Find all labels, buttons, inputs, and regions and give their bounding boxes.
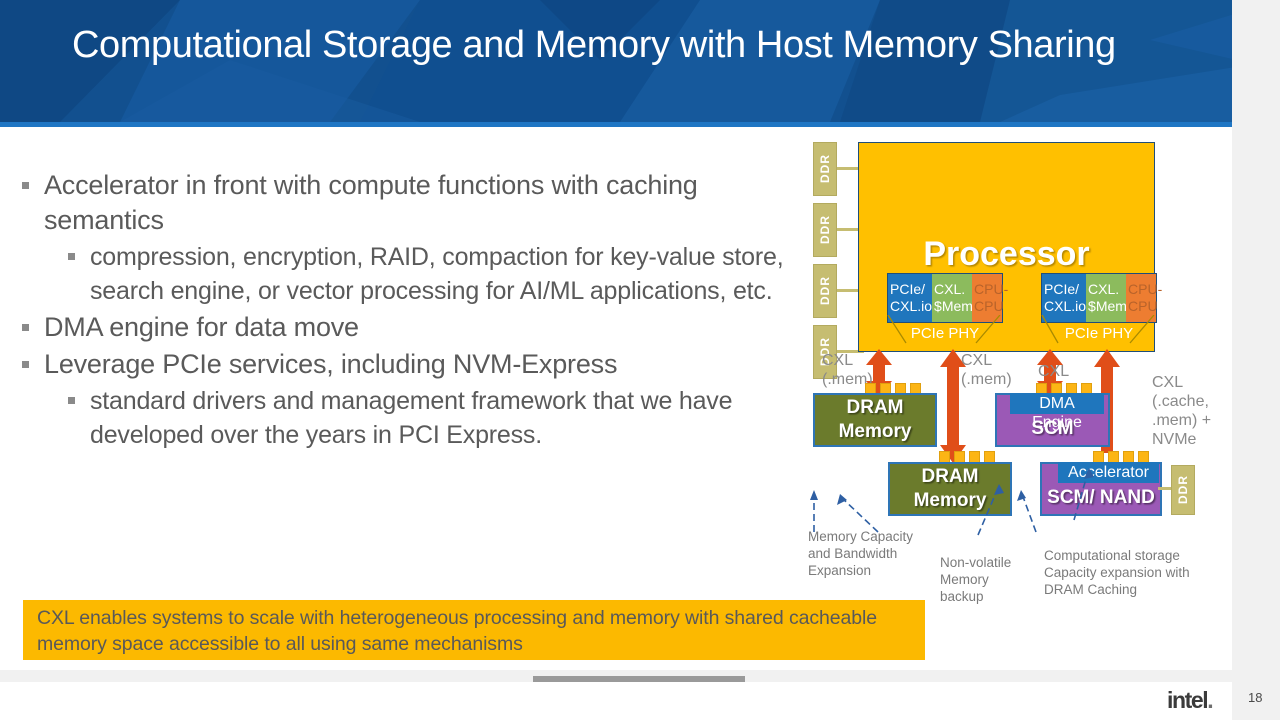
slide-header: Computational Storage and Memory with Ho… [0, 0, 1280, 122]
device-line: DRAM [847, 396, 904, 420]
callout-banner: CXL enables systems to scale with hetero… [23, 600, 925, 660]
bullet-item: compression, encryption, RAID, compactio… [18, 240, 808, 308]
intel-logo-text: intel [1167, 687, 1207, 713]
phy-funnel-lines [858, 315, 1158, 345]
bullet-item: DMA engine for data move [18, 310, 808, 345]
intel-logo-dot: . [1207, 687, 1212, 713]
ddr-module: DDR [813, 142, 837, 196]
annotation-nonvolatile-backup: Non-volatile Memory backup [940, 554, 1050, 605]
page-title: Computational Storage and Memory with Ho… [72, 22, 1152, 68]
page-number: 18 [1248, 690, 1262, 705]
cxl-label-mid: CXL (.mem) [961, 351, 1012, 389]
bullet-item: Leverage PCIe services, including NVM-Ex… [18, 347, 808, 382]
scm-dma-engine-badge: DMA Engine [1010, 393, 1104, 414]
device-dram-top-left: DRAM Memory [813, 393, 937, 447]
device-line: Memory [839, 420, 912, 444]
processor-label: Processor [859, 235, 1154, 274]
annotation-memory-capacity: Memory Capacity and Bandwidth Expansion [808, 528, 958, 579]
right-gutter [1232, 0, 1280, 682]
bullet-item: standard drivers and management framewor… [18, 384, 808, 452]
bottom-white-area [0, 682, 1232, 720]
bullet-item: Accelerator in front with compute functi… [18, 168, 808, 238]
horizontal-scrollbar[interactable] [533, 676, 745, 682]
ddr-module: DDR [813, 264, 837, 318]
bullet-list: Accelerator in front with compute functi… [18, 168, 808, 454]
cxl-label-right: CXL [1038, 362, 1069, 381]
ddr-module: DDR [813, 203, 837, 257]
cxl-label-cache-mem-nvme: CXL (.cache, .mem) + NVMe [1152, 373, 1211, 449]
architecture-diagram: DDR DDR DDR DDR Processor PCIe/ CXL.io C… [800, 135, 1232, 605]
annotation-computational-storage: Computational storage Capacity expansion… [1044, 547, 1229, 598]
slide-canvas: Computational Storage and Memory with Ho… [0, 0, 1280, 720]
header-underline [0, 122, 1280, 127]
intel-logo: intel. [1167, 687, 1212, 714]
